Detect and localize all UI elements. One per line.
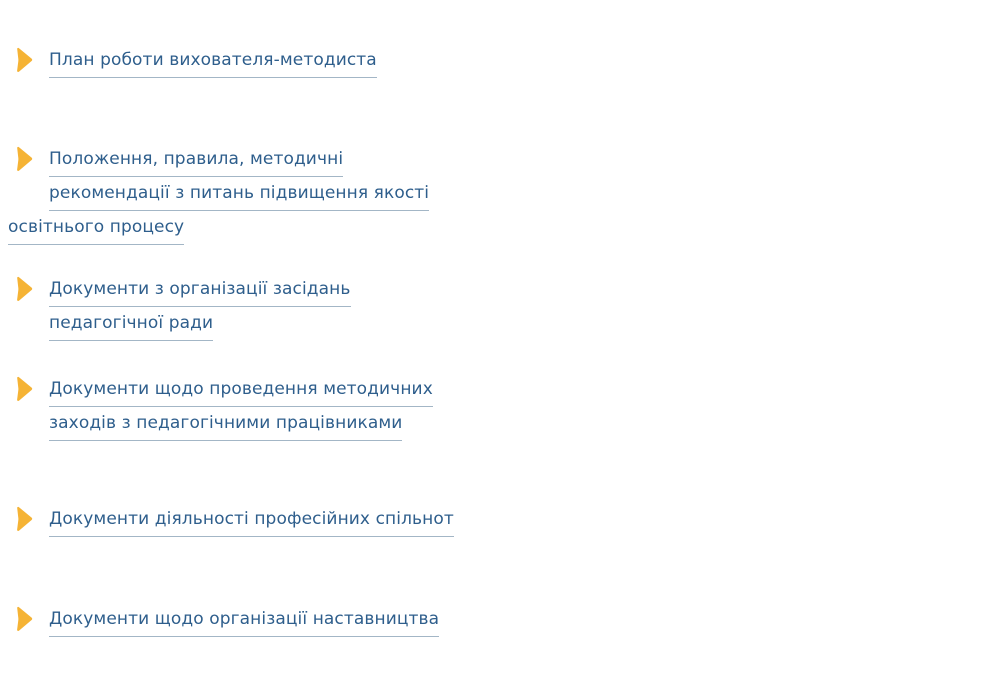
document-link-label[interactable]: Документи діяльності професійних спільно… xyxy=(49,503,454,537)
link-text-line: Документи щодо організації наставництва xyxy=(49,603,439,637)
document-link-dokumenty-shchodo-provedennia-metodychnykh-zakhodiv[interactable]: Документи щодо проведення методичнихзахо… xyxy=(0,373,500,439)
document-link-polozhennia-pravyla-metodychni-rekomendatsii[interactable]: Положення, правила, методичнірекомендаці… xyxy=(0,143,500,242)
link-text-line: педагогічної ради xyxy=(49,307,213,341)
chevron-right-icon xyxy=(14,376,36,402)
document-link-label[interactable]: Документи з організації засіданьпедагогі… xyxy=(49,273,351,341)
link-text-line: заходів з педагогічними працівниками xyxy=(49,407,402,441)
link-text-line: Положення, правила, методичні xyxy=(49,143,343,177)
document-link-zhurnal-reiestratsii-indyvidualnykh-konsultatsii[interactable]: Журнал реєстрації індивідуальнихконсульт… xyxy=(505,44,1007,110)
chevron-right-icon xyxy=(14,276,36,302)
chevron-right-icon xyxy=(14,606,36,632)
document-link-dokumenty-diialnosti-profesiinykh-spilnot[interactable]: Документи діяльності професійних спільно… xyxy=(0,503,500,536)
document-link-label[interactable]: Документи щодо організації наставництва xyxy=(49,603,439,637)
link-text-line: Документи діяльності професійних спільно… xyxy=(49,503,454,537)
link-text-line: рекомендації з питань підвищення якості xyxy=(49,177,429,211)
chevron-right-icon xyxy=(14,146,36,172)
document-link-dokumenty-shchodo-provedennia-monitorynhu[interactable]: Документи щодо проведення моніторингурів… xyxy=(505,273,1007,339)
document-link-knyha-obliku-posibnykiv[interactable]: Книга обліку посібників, ігровогой дидак… xyxy=(505,505,1007,571)
document-link-dokumenty-shchodo-orhanizatsii-nastavnytstva[interactable]: Документи щодо організації наставництва xyxy=(0,603,500,636)
document-link-label[interactable]: Положення, правила, методичнірекомендаці… xyxy=(49,143,429,245)
chevron-right-icon xyxy=(14,506,36,532)
documents-link-list-page: План роботи вихователя-методистаПоложенн… xyxy=(0,0,1007,683)
link-text-line: Документи з організації засідань xyxy=(49,273,351,307)
link-text-line: План роботи вихователя-методиста xyxy=(49,44,377,78)
chevron-right-icon xyxy=(14,47,36,73)
link-text-line: освітнього процесу xyxy=(8,211,184,245)
document-link-label[interactable]: План роботи вихователя-методиста xyxy=(49,44,377,78)
document-link-dokumenty-z-pytan-tematychnoho-otsiniuvannia[interactable]: Документи з питань тематичногооцінювання… xyxy=(505,143,1007,242)
document-link-plan-roboty-vykhovatelia-metodysta[interactable]: План роботи вихователя-методиста xyxy=(0,44,500,77)
link-text-line: Документи щодо проведення методичних xyxy=(49,373,433,407)
document-link-label[interactable]: Документи щодо проведення методичнихзахо… xyxy=(49,373,433,441)
document-link-dokumenty-shchodo-vyvchennia-praktychnoho-dosvidu[interactable]: Документи щодо вивчення практичногодосві… xyxy=(505,373,1007,472)
document-link-dokumenty-z-orhanizatsii-zasidan-pedahohichnoi-rady[interactable]: Документи з організації засіданьпедагогі… xyxy=(0,273,500,339)
